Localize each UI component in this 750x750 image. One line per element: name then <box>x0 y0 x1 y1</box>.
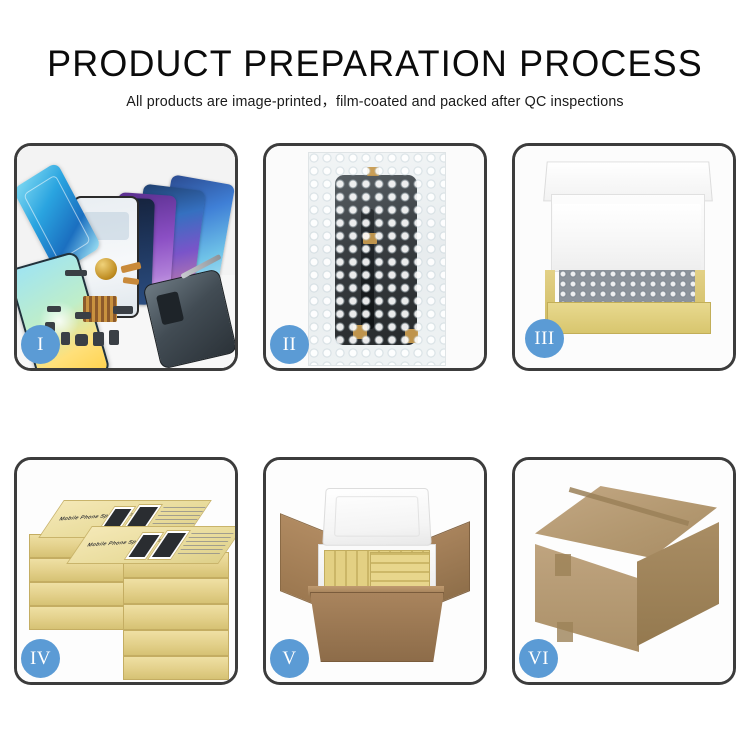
carton-left-face <box>535 544 639 652</box>
foam-sheet-icon <box>553 204 701 270</box>
small-part-icon <box>75 312 91 319</box>
small-part-icon <box>61 332 70 345</box>
process-step-4: Mobile Phone Spare Parts Mobile Phone Sp… <box>14 457 238 685</box>
process-step-1: I <box>14 143 238 371</box>
process-step-6: VI <box>512 457 736 685</box>
bubble-wrap-bag <box>308 152 446 366</box>
styrofoam-lid-icon <box>322 488 431 546</box>
step-3-image: III <box>515 146 733 368</box>
page-subtitle: All products are image-printed，film-coat… <box>0 84 750 111</box>
carton-front-panel <box>310 592 444 662</box>
kraft-box-icon <box>123 656 229 680</box>
small-part-icon <box>109 330 119 345</box>
process-step-grid: I II <box>14 143 736 735</box>
step-badge-2: II <box>270 325 309 364</box>
flex-cable-icon <box>113 306 133 314</box>
kraft-box-icon <box>123 578 229 604</box>
step-badge-6: VI <box>519 639 558 678</box>
step-6-image: VI <box>515 460 733 682</box>
process-step-5: V <box>263 457 487 685</box>
box-front-panel <box>547 302 711 334</box>
bubble-wrapped-units-icon <box>559 270 697 304</box>
small-part-icon <box>65 270 87 276</box>
kraft-box-icon <box>29 606 127 630</box>
step-badge-3: III <box>525 319 564 358</box>
small-part-icon <box>93 332 104 346</box>
kraft-box-icon <box>29 582 127 606</box>
step-badge-4: IV <box>21 639 60 678</box>
carton-tape-patch <box>555 554 571 576</box>
step-1-image: I <box>17 146 235 368</box>
step-4-image: Mobile Phone Spare Parts Mobile Phone Sp… <box>17 460 235 682</box>
step-2-image: II <box>266 146 484 368</box>
product-preparation-process-page: PRODUCT PREPARATION PROCESS All products… <box>0 0 750 750</box>
step-5-image: V <box>266 460 484 682</box>
page-header: PRODUCT PREPARATION PROCESS All products… <box>0 0 750 111</box>
small-part-icon <box>75 334 88 346</box>
small-part-icon <box>47 306 61 312</box>
page-title: PRODUCT PREPARATION PROCESS <box>11 0 739 84</box>
carton-tape-patch <box>557 622 573 642</box>
process-step-3: III <box>512 143 736 371</box>
copper-coil-icon <box>95 258 117 280</box>
kraft-box-icon <box>123 604 229 630</box>
bubble-texture <box>309 153 445 365</box>
process-step-2: II <box>263 143 487 371</box>
yellow-packs-icon <box>370 552 430 590</box>
kraft-box-icon <box>123 630 229 656</box>
step-badge-5: V <box>270 639 309 678</box>
step-badge-1: I <box>21 325 60 364</box>
